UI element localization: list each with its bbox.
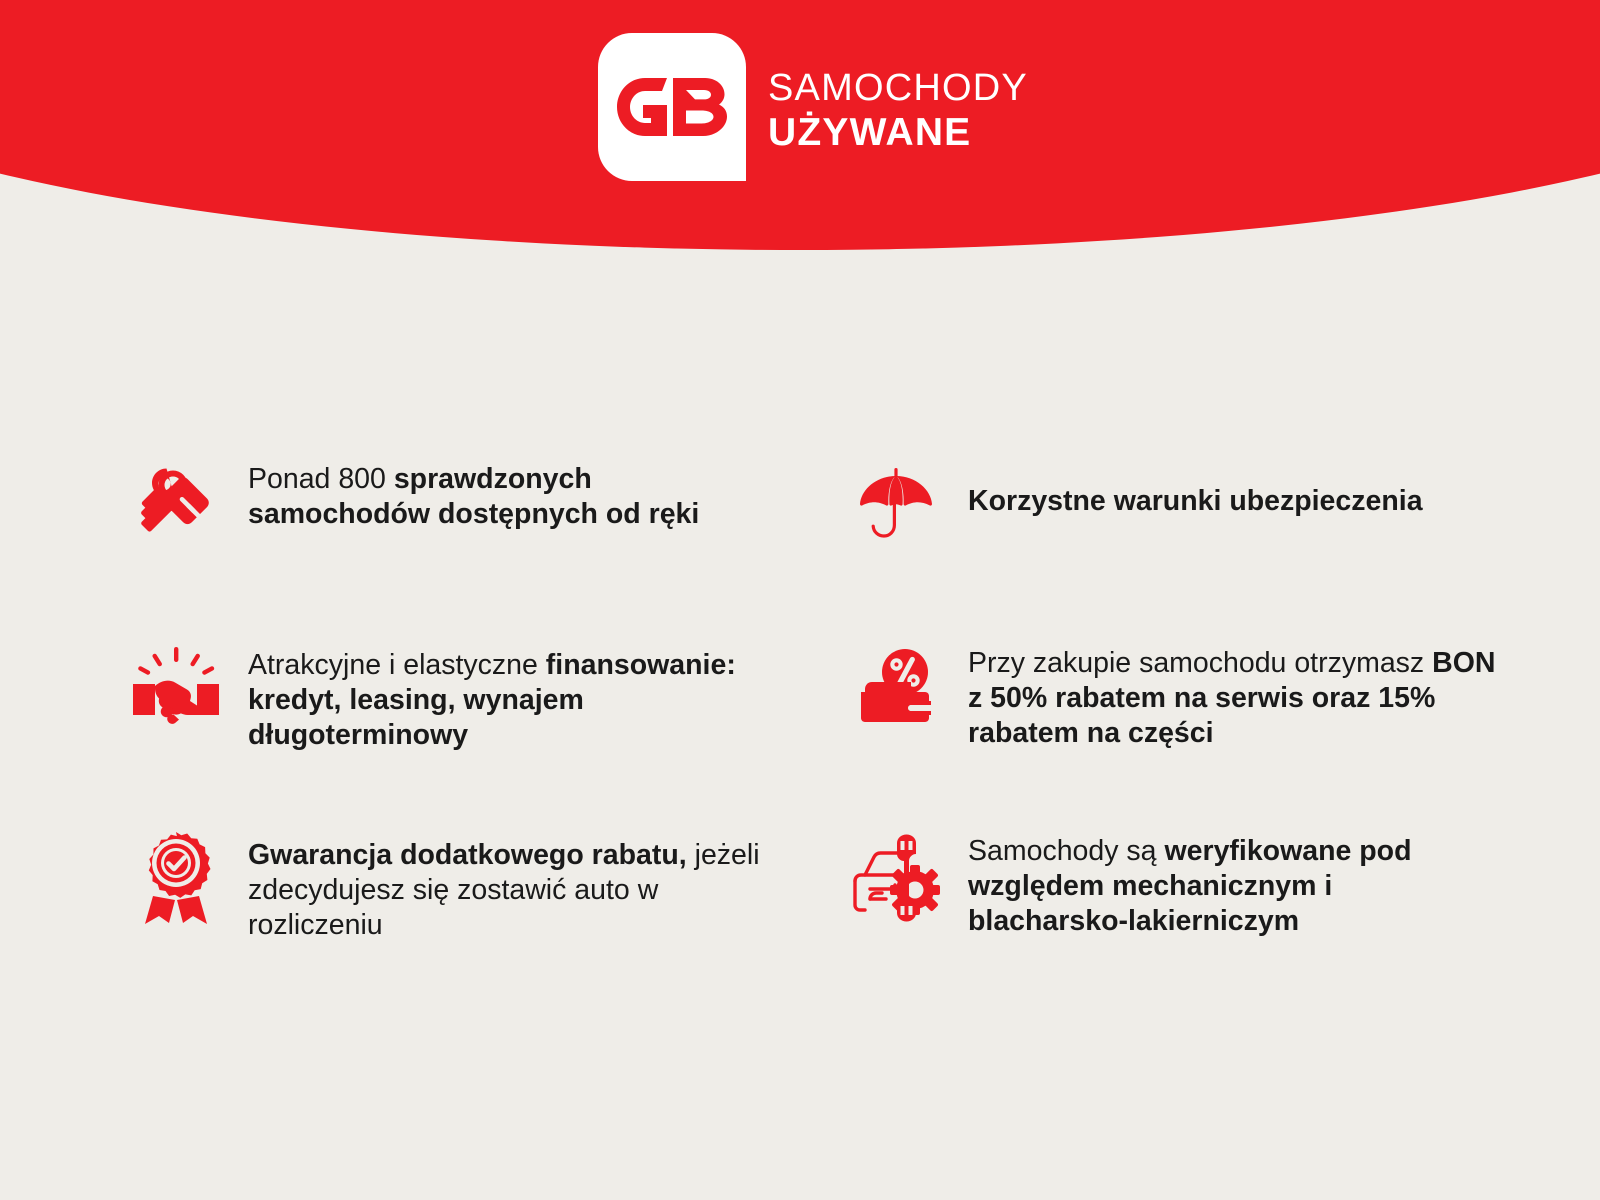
feature-item-service-voucher: Przy zakupie samochodu otrzymasz BON z 5… [848, 626, 1568, 812]
feature-item-financing: Atrakcyjne i elastyczne finansowanie: kr… [128, 626, 848, 812]
brand-title: SAMOCHODY UŻYWANE [768, 63, 1028, 152]
feature-segment-bold: Korzystne warunki ubezpieczenia [968, 485, 1423, 517]
feature-item-verified-cars: Samochody są weryfikowane pod względem m… [848, 812, 1568, 998]
feature-text-verified-cars: Samochody są weryfikowane pod względem m… [968, 812, 1498, 939]
feature-item-cars-available: Ponad 800 sprawdzonych samochodów dostęp… [128, 440, 848, 626]
award-badge-icon [128, 830, 224, 926]
feature-text-financing: Atrakcyjne i elastyczne finansowanie: kr… [248, 626, 778, 753]
feature-list: Ponad 800 sprawdzonych samochodów dostęp… [0, 440, 1600, 998]
feature-segment-regular: Przy zakupie samochodu otrzymasz [968, 647, 1432, 679]
page-header: SAMOCHODY UŻYWANE [0, 0, 1600, 260]
feature-item-trade-in-discount: Gwarancja dodatkowego rabatu, jeżeli zde… [128, 812, 848, 998]
gb-logo-icon [598, 33, 746, 181]
feature-text-trade-in-discount: Gwarancja dodatkowego rabatu, jeżeli zde… [248, 812, 778, 943]
brand-title-line1: SAMOCHODY [768, 69, 1028, 107]
feature-segment-regular: Samochody są [968, 835, 1164, 867]
feature-segment-regular: Ponad 800 [248, 463, 394, 495]
wallet-percent-icon [848, 640, 944, 736]
feature-text-insurance: Korzystne warunki ubezpieczenia [968, 440, 1423, 519]
feature-segment-regular: Atrakcyjne i elastyczne [248, 649, 546, 681]
brand-title-line2: UŻYWANE [768, 113, 1028, 152]
car-wrench-gear-icon [848, 830, 944, 926]
car-key-icon [128, 454, 224, 550]
umbrella-icon [848, 454, 944, 550]
feature-text-cars-available: Ponad 800 sprawdzonych samochodów dostęp… [248, 440, 778, 532]
feature-item-insurance: Korzystne warunki ubezpieczenia [848, 440, 1568, 626]
feature-segment-bold: Gwarancja dodatkowego rabatu, [248, 839, 687, 871]
brand-logo[interactable]: SAMOCHODY UŻYWANE [598, 33, 1028, 181]
feature-text-service-voucher: Przy zakupie samochodu otrzymasz BON z 5… [968, 626, 1498, 751]
handshake-icon [128, 640, 224, 736]
